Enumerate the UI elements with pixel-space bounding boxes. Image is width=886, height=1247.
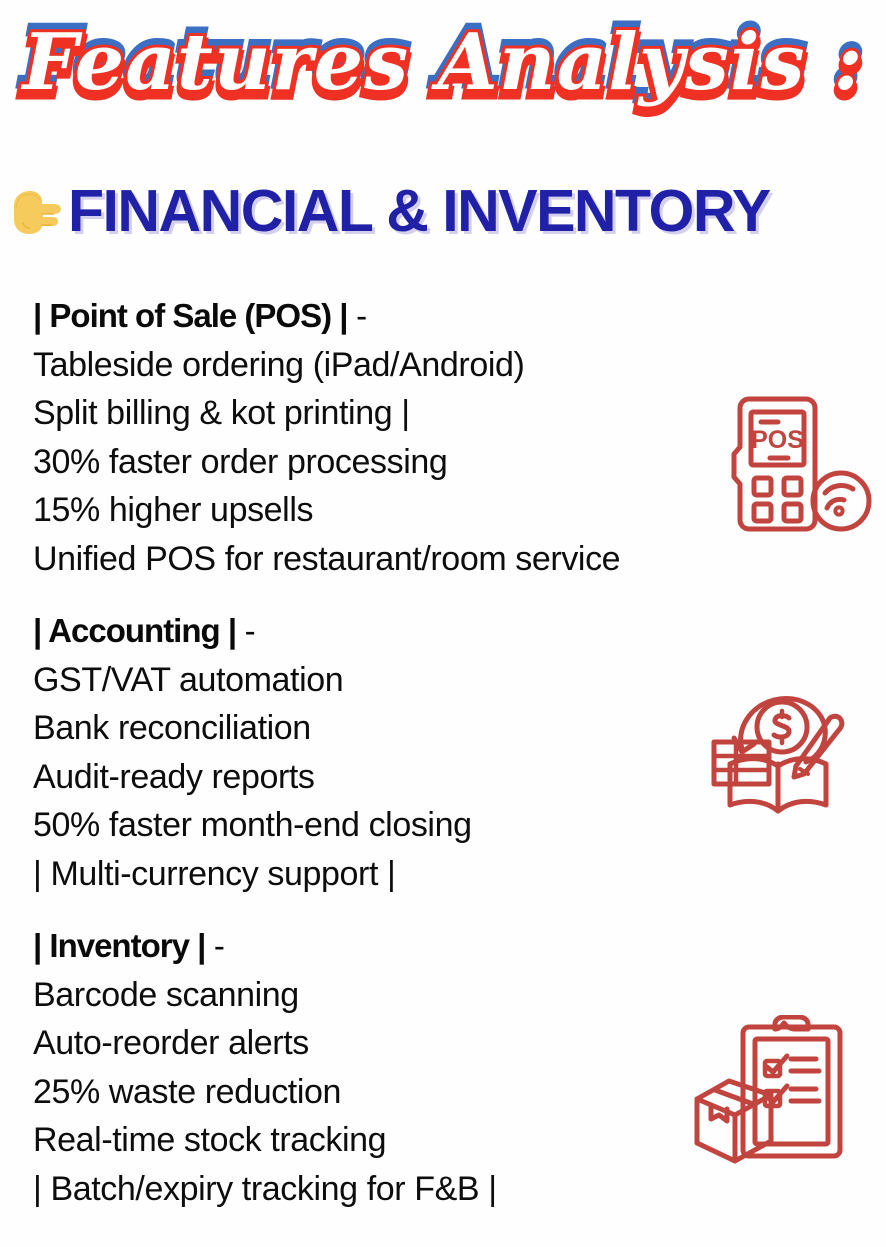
feature-line: Tableside ordering (iPad/Android) [33, 341, 886, 390]
section-heading-bold: | Point of Sale (POS) | [33, 297, 348, 334]
section-heading-point-of-sale: | Point of Sale (POS) | - [33, 292, 886, 341]
pos-terminal-icon: POS [722, 394, 874, 534]
page-title: Features Analysis : Features Analysis : … [0, 8, 886, 128]
feature-line: Barcode scanning [33, 971, 886, 1020]
section-heading-accounting: | Accounting | - [33, 607, 886, 656]
feature-line: | Batch/expiry tracking for F&B | [33, 1165, 886, 1214]
feature-line: | Multi-currency support | [33, 850, 886, 899]
pointing-right-hand-icon [8, 184, 66, 238]
section-heading-bold: | Accounting | [33, 612, 236, 649]
section-heading-dash: - [236, 612, 255, 649]
section-heading-inventory: | Inventory | - [33, 922, 886, 971]
category-heading-label: FINANCIAL & INVENTORY [68, 182, 770, 241]
section-heading-dash: - [348, 297, 367, 334]
accounting-ledger-icon [706, 674, 852, 824]
section-heading-dash: - [205, 927, 224, 964]
feature-line: Unified POS for restaurant/room service [33, 535, 886, 584]
inventory-clipboard-box-icon [685, 1015, 851, 1167]
category-heading: FINANCIAL & INVENTORY [8, 174, 886, 248]
svg-text:POS: POS [751, 426, 804, 454]
features-content: | Point of Sale (POS) | - Tableside orde… [0, 292, 886, 1237]
section-heading-bold: | Inventory | [33, 927, 205, 964]
title-face-layer: Features Analysis : [0, 8, 886, 118]
